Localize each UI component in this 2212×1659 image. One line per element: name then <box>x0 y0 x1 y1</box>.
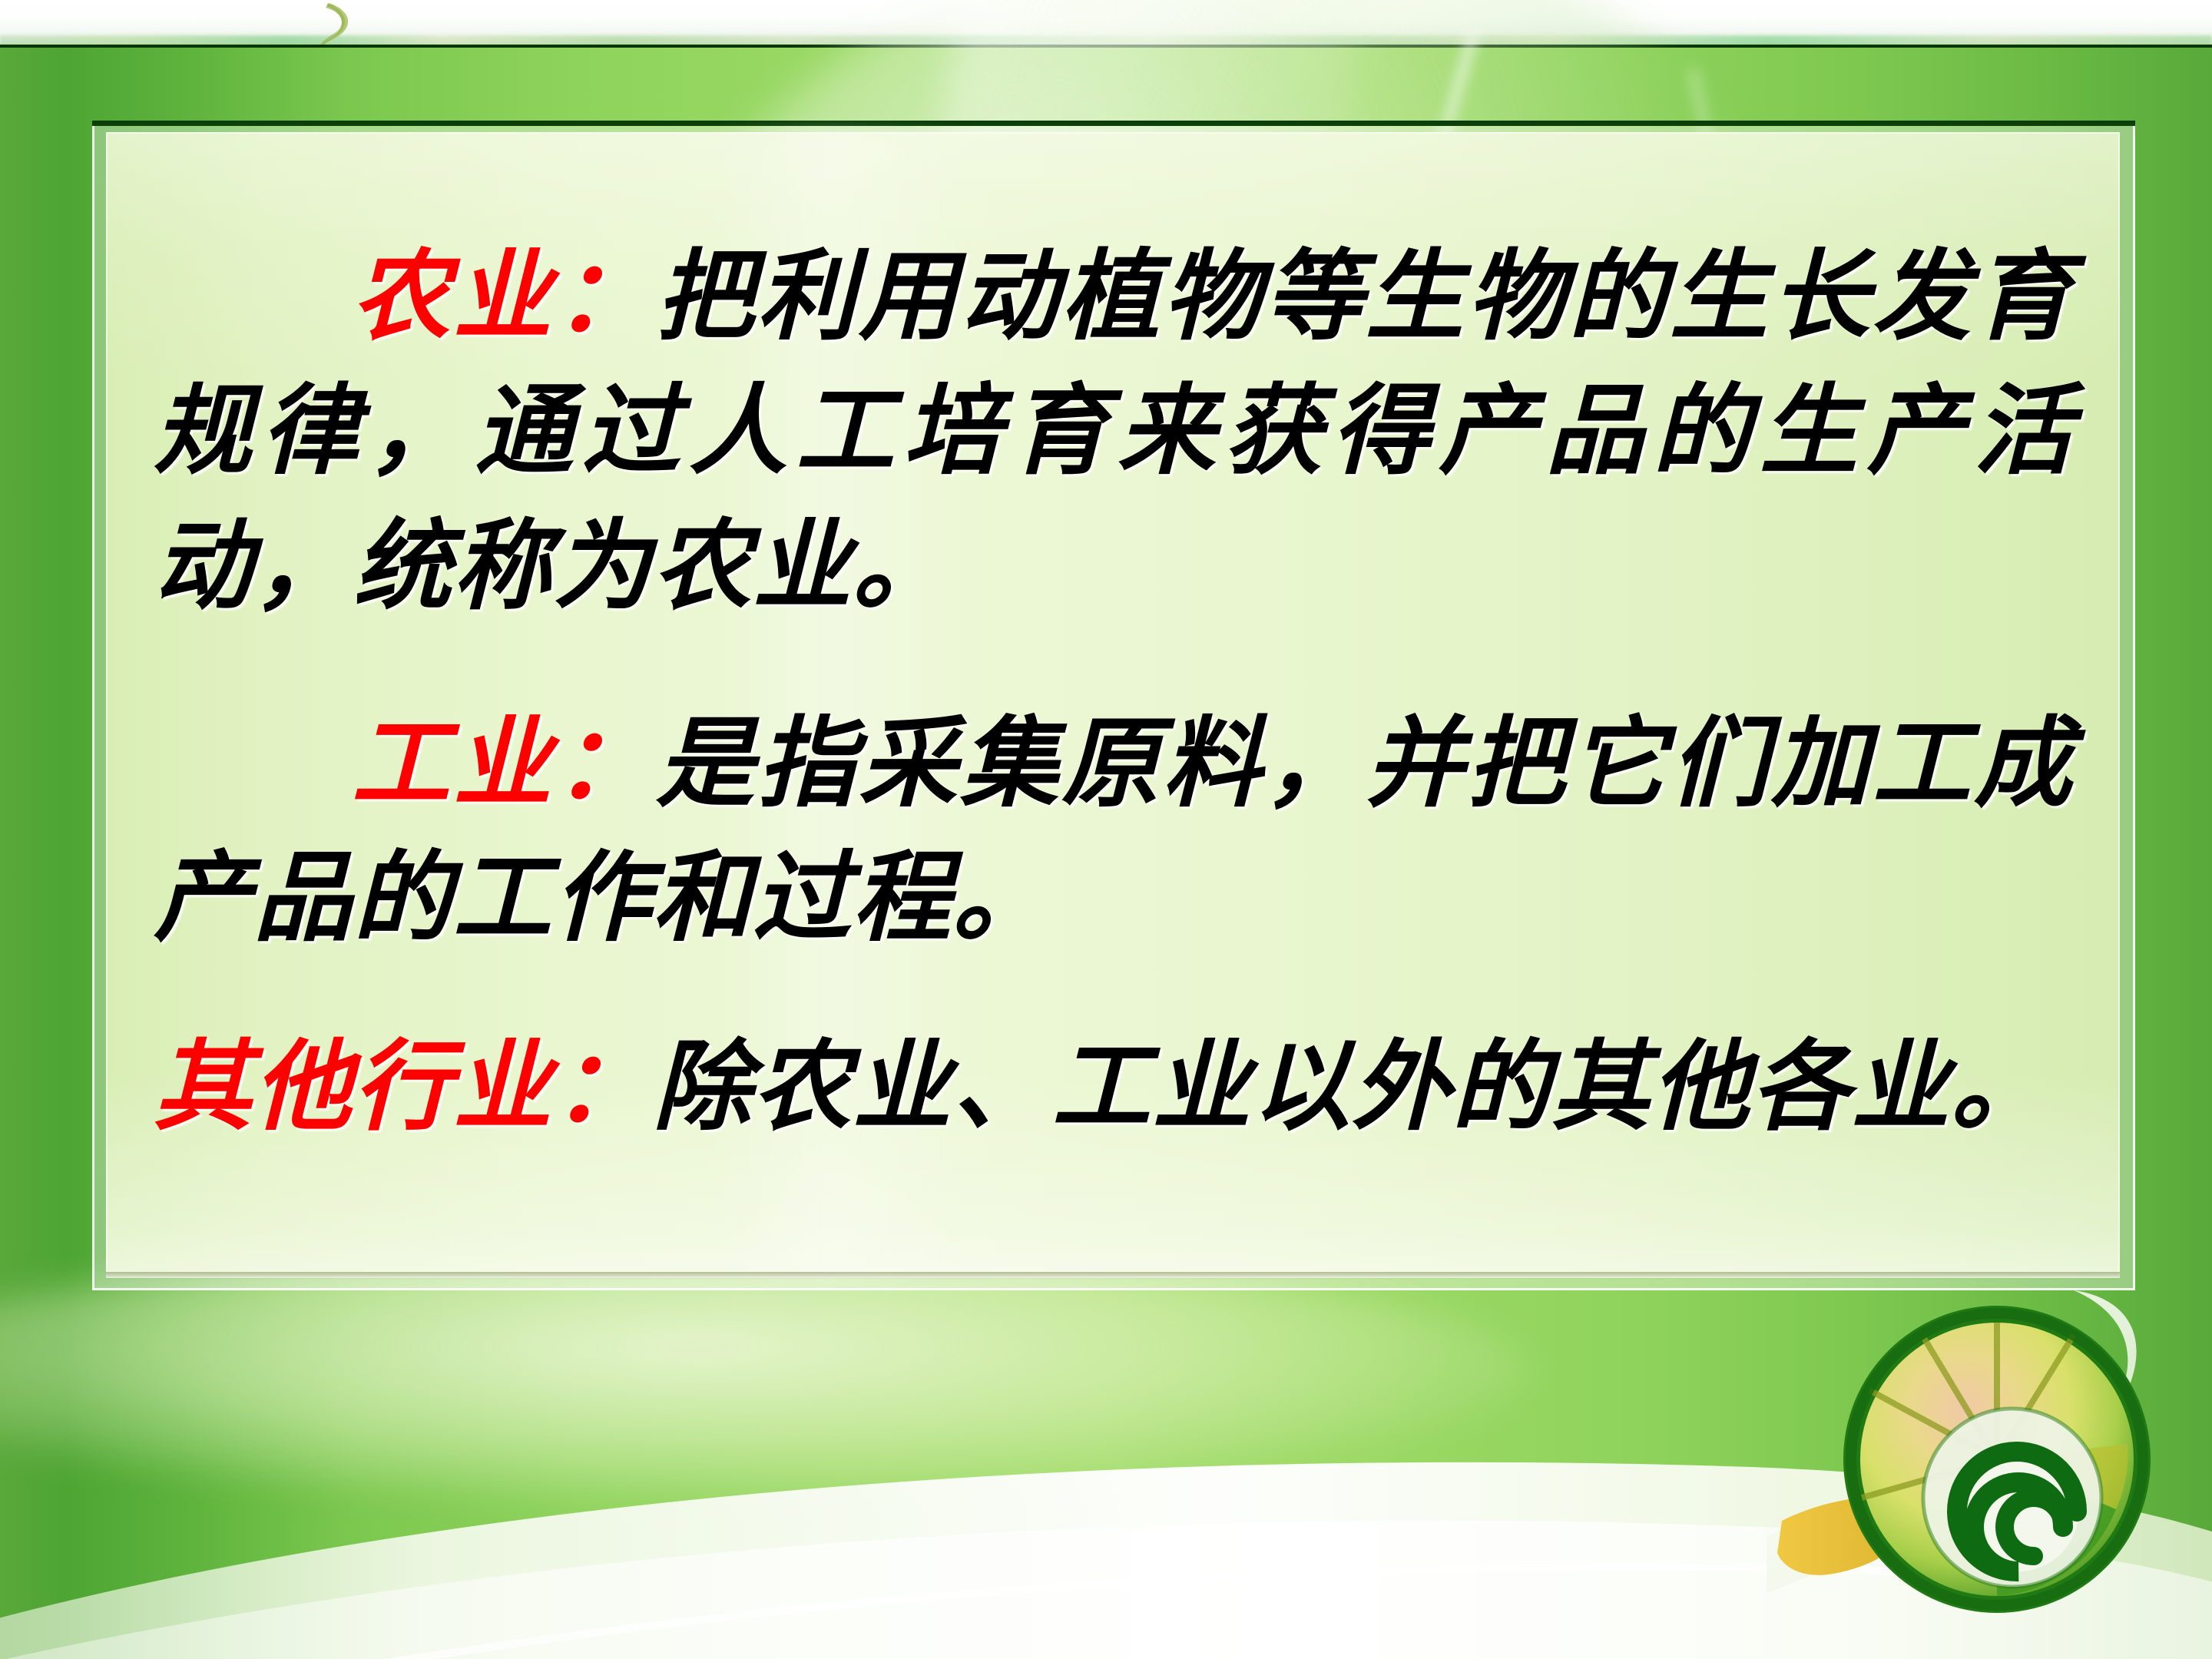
definition-list: 农业：把利用动植物等生物的生长发育规律，通过人工培育来获得产品的生产活动，统称为… <box>154 230 2074 1155</box>
content-panel-top-rule <box>92 121 2135 126</box>
definition-paragraph-industry: 工业：是指采集原料，并把它们加工成产品的工作和过程。 <box>154 697 2074 967</box>
definition-paragraph-agriculture: 农业：把利用动植物等生物的生长发育规律，通过人工培育来获得产品的生产活动，统称为… <box>154 230 2074 634</box>
term-label-industry: 工业： <box>350 710 656 819</box>
definition-text-other-industries: 除农业、工业以外的其他各业。 <box>653 1033 2051 1142</box>
leaf-curl-icon <box>284 2 369 49</box>
definition-paragraph-other-industries: 其他行业：除农业、工业以外的其他各业。 <box>154 1021 2074 1155</box>
slide-canvas: 农业：把利用动植物等生物的生长发育规律，通过人工培育来获得产品的生产活动，统称为… <box>0 0 2212 1659</box>
snail-spiral-logo-icon <box>1767 1267 2197 1651</box>
term-label-agriculture: 农业： <box>350 243 656 352</box>
term-label-other-industries: 其他行业： <box>154 1033 653 1142</box>
